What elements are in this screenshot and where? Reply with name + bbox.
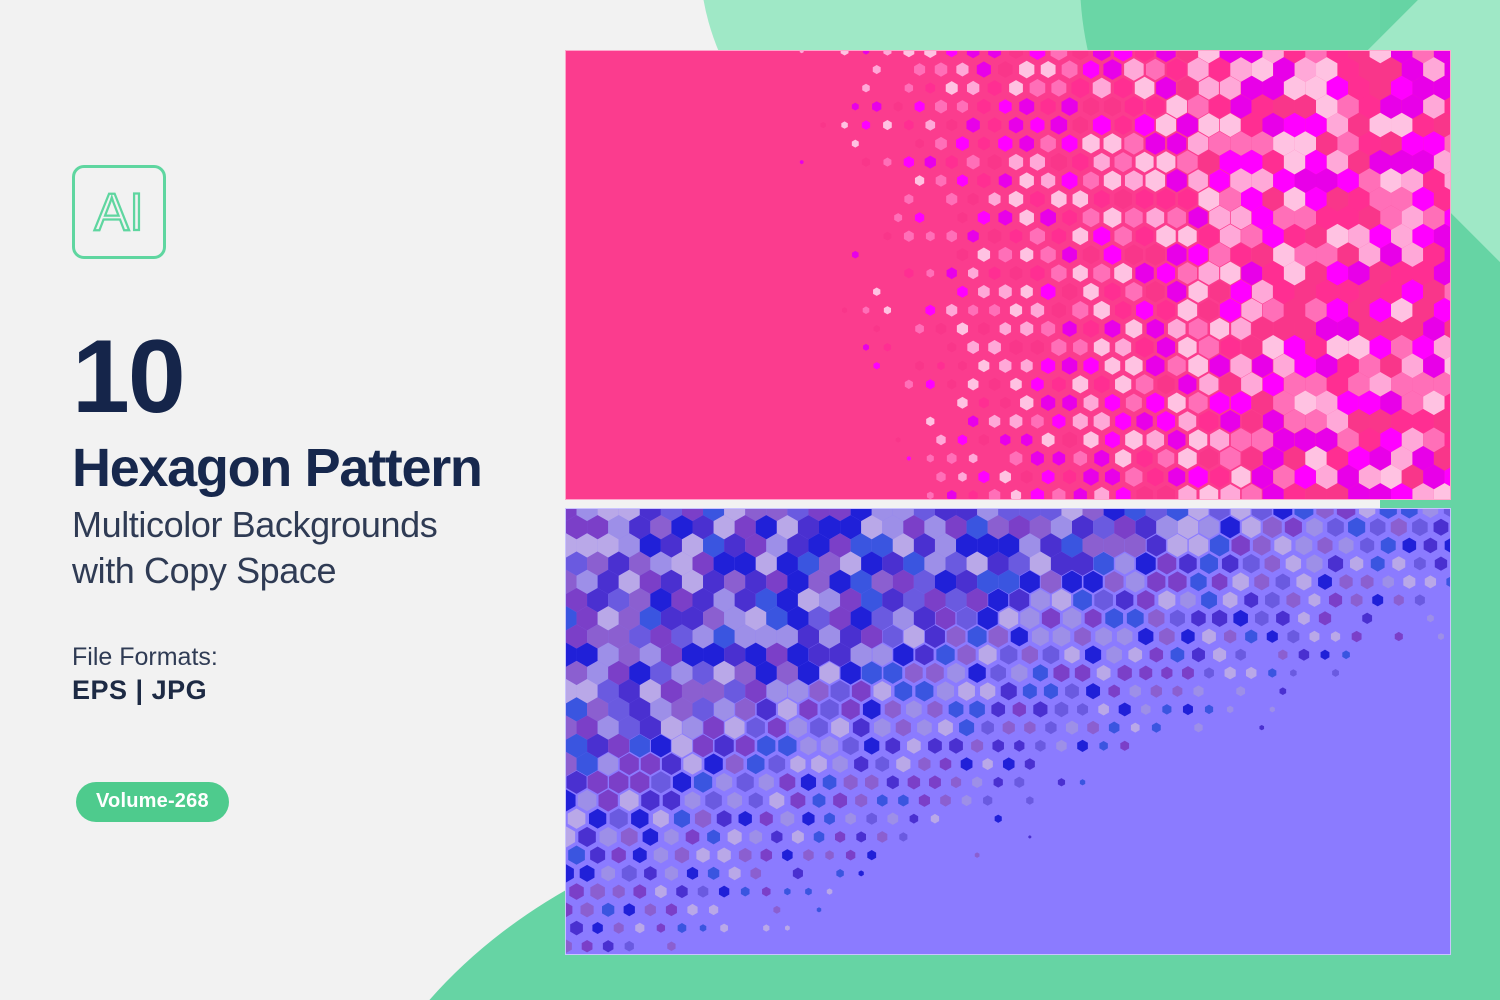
volume-badge: Volume-268 bbox=[76, 782, 229, 822]
file-formats-value: EPS | JPG bbox=[72, 675, 207, 706]
pack-count: 10 bbox=[72, 325, 184, 429]
adobe-illustrator-ai-badge-icon: AI bbox=[72, 165, 166, 259]
pink-hexagon-pattern bbox=[566, 51, 1450, 499]
purple-hexagon-preview[interactable] bbox=[565, 508, 1451, 955]
purple-hexagon-pattern bbox=[566, 509, 1450, 954]
page-subtitle: Multicolor Backgrounds with Copy Space bbox=[72, 502, 437, 594]
page-subtitle-line-2: with Copy Space bbox=[72, 548, 437, 594]
file-formats-label: File Formats: bbox=[72, 643, 218, 672]
pink-hexagon-preview[interactable] bbox=[565, 50, 1451, 500]
green-band-bottom bbox=[560, 955, 1500, 1000]
page-title: Hexagon Pattern bbox=[72, 440, 482, 497]
page-subtitle-line-1: Multicolor Backgrounds bbox=[72, 502, 437, 548]
poster-canvas: AI 10 Hexagon Pattern Multicolor Backgro… bbox=[0, 0, 1500, 1000]
info-column: AI 10 Hexagon Pattern Multicolor Backgro… bbox=[72, 0, 542, 1000]
svg-text:AI: AI bbox=[94, 184, 144, 242]
